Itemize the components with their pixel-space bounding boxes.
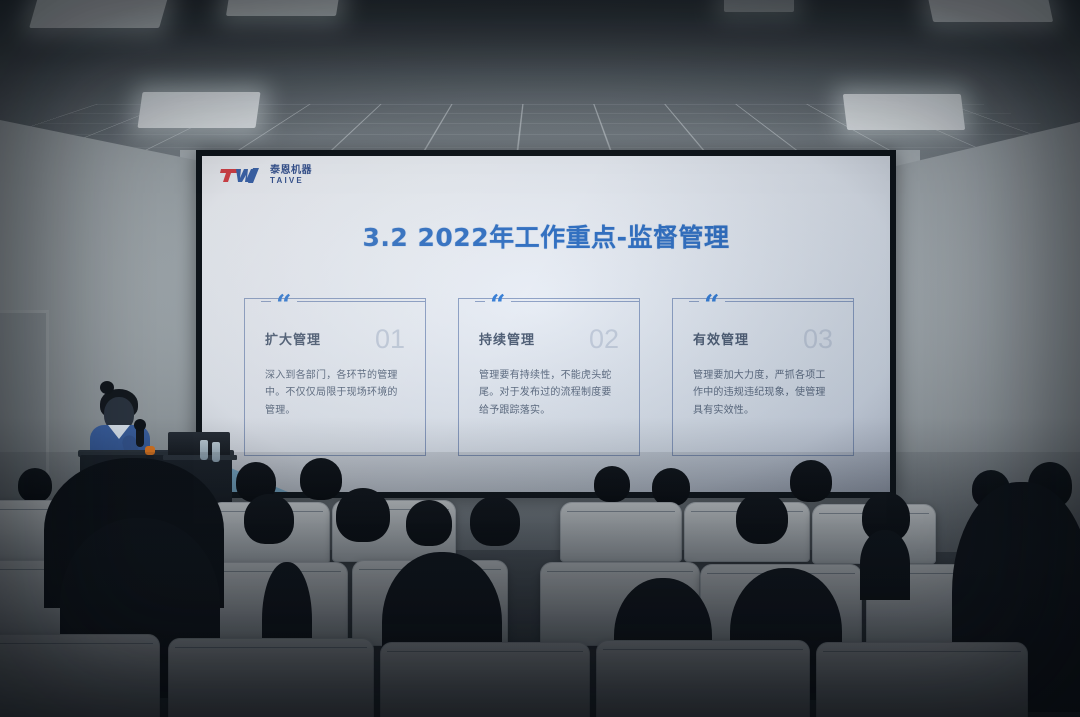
taive-logo-mark-icon	[220, 166, 264, 185]
quote-mark-icon: “	[271, 292, 297, 319]
audience-head	[652, 468, 690, 506]
audience-head	[336, 488, 390, 542]
quote-line-right	[511, 301, 639, 302]
quote-line-right	[725, 301, 853, 302]
quote-mark-icon: “	[485, 292, 511, 319]
card-quote-decoration: “	[689, 288, 853, 315]
ceiling	[0, 0, 1080, 168]
card-header: 持续管理 02	[479, 329, 619, 351]
ceiling-shading	[0, 0, 1080, 168]
conference-room-photo: 泰恩机器 TAIVE 3.2 2022年工作重点-监督管理 “ 扩大管理 01	[0, 0, 1080, 717]
card-body-text: 管理要有持续性，不能虎头蛇尾。对于发布过的流程制度要给予跟踪落实。	[479, 367, 619, 420]
audience-head	[300, 458, 342, 500]
card-quote-decoration: “	[475, 288, 639, 315]
ceiling-light-panel	[843, 94, 965, 130]
audience-seat	[0, 634, 160, 717]
audience-person-silhouette	[860, 530, 910, 600]
logo-chinese-text: 泰恩机器	[270, 166, 312, 176]
presentation-slide: 泰恩机器 TAIVE 3.2 2022年工作重点-监督管理 “ 扩大管理 01	[202, 156, 890, 492]
microphone-head-icon	[134, 419, 146, 431]
card-title: 有效管理	[693, 329, 749, 348]
audience-head	[406, 500, 452, 546]
projection-screen: 泰恩机器 TAIVE 3.2 2022年工作重点-监督管理 “ 扩大管理 01	[196, 150, 896, 498]
audience-head	[594, 466, 630, 502]
presenter-hair-bun	[100, 381, 114, 394]
audience-head	[244, 494, 294, 544]
company-logo: 泰恩机器 TAIVE	[220, 166, 312, 185]
quote-line-left	[475, 301, 485, 302]
slide-cards-row: “ 扩大管理 01 深入到各部门，各环节的管理中。不仅仅局限于现场环境的管理。 …	[244, 298, 854, 456]
audience-seat	[560, 502, 682, 562]
audience-seat	[168, 638, 374, 717]
slide-card: “ 扩大管理 01 深入到各部门，各环节的管理中。不仅仅局限于现场环境的管理。	[244, 298, 426, 456]
audience-head	[18, 468, 52, 502]
card-number: 02	[589, 329, 619, 351]
audience-head	[736, 492, 788, 544]
card-body-text: 管理要加大力度，严抓各项工作中的违规违纪现象，使管理具有实效性。	[693, 367, 833, 420]
ceiling-light-panel	[724, 0, 794, 12]
audience-head	[790, 460, 832, 502]
audience-seat	[816, 642, 1028, 717]
card-title: 扩大管理	[265, 329, 321, 348]
slide-card: “ 有效管理 03 管理要加大力度，严抓各项工作中的违规违纪现象，使管理具有实效…	[672, 298, 854, 456]
slide-card: “ 持续管理 02 管理要有持续性，不能虎头蛇尾。对于发布过的流程制度要给予跟踪…	[458, 298, 640, 456]
card-header: 有效管理 03	[693, 329, 833, 351]
audience-seat	[380, 642, 590, 717]
card-title: 持续管理	[479, 329, 535, 348]
logo-wordmark: 泰恩机器 TAIVE	[270, 166, 312, 185]
quote-line-left	[689, 301, 699, 302]
card-body-text: 深入到各部门，各环节的管理中。不仅仅局限于现场环境的管理。	[265, 367, 405, 420]
audience-head	[470, 496, 520, 546]
quote-mark-icon: “	[699, 292, 725, 319]
card-header: 扩大管理 01	[265, 329, 405, 351]
ceiling-light-panel	[137, 92, 260, 128]
card-number: 03	[803, 329, 833, 351]
logo-english-text: TAIVE	[270, 177, 312, 185]
quote-line-left	[261, 301, 271, 302]
ceiling-light-panel	[927, 0, 1053, 22]
ceiling-light-panel	[29, 0, 169, 28]
card-quote-decoration: “	[261, 288, 425, 315]
card-number: 01	[375, 329, 405, 351]
slide-title: 3.2 2022年工作重点-监督管理	[202, 218, 890, 254]
quote-line-right	[297, 301, 425, 302]
ceiling-light-panel	[226, 0, 340, 16]
audience-seat	[596, 640, 810, 717]
audience-area	[0, 452, 1080, 717]
